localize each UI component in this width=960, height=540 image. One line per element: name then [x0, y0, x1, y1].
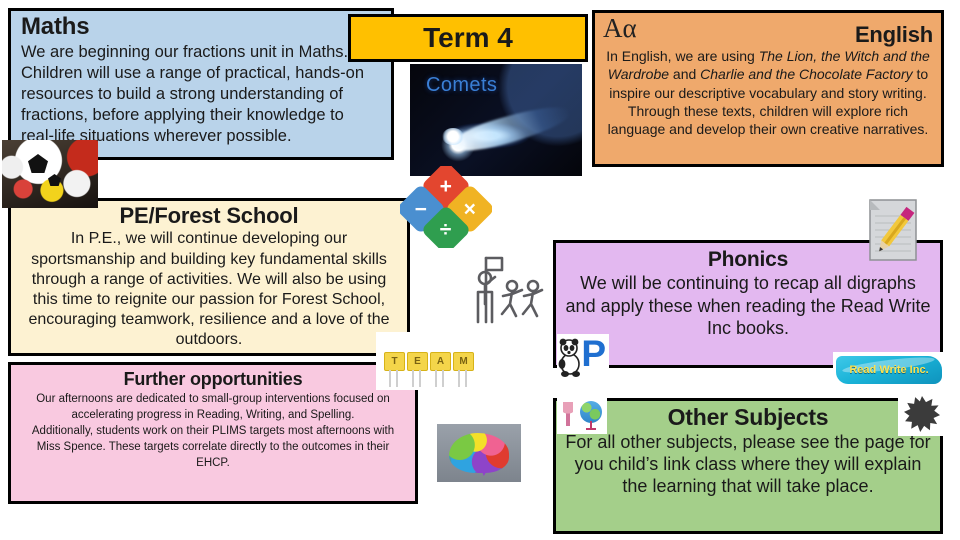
english-book-title-2: Charlie and the Chocolate Factory: [700, 66, 912, 82]
read-write-inc-logo: Read Write Inc.: [833, 352, 945, 388]
notepad-pencil-icon: [864, 198, 922, 262]
alphabet-aa-icon: Aα: [603, 15, 637, 42]
card-pe-forest-school[interactable]: PE/Forest School In P.E., we will contin…: [8, 198, 410, 356]
splat-icon: [898, 392, 946, 436]
comets-label: Comets: [426, 74, 497, 97]
panda-phonics-icon: P: [557, 334, 609, 382]
puzzle-person: T: [384, 352, 405, 371]
term-banner[interactable]: Term 4: [348, 14, 588, 62]
card-further-paragraph-2: Additionally, students work on their PLI…: [21, 423, 405, 471]
puzzle-person: M: [453, 352, 474, 371]
english-text-mid: and: [669, 66, 700, 82]
math-operators-icon: + − × ÷: [400, 166, 492, 248]
globe-stand: [586, 421, 596, 430]
football-pentagon: [48, 174, 61, 186]
running-figures-svg: [470, 252, 546, 332]
minus-glyph: −: [415, 198, 427, 219]
globe-person-icon: [557, 396, 607, 434]
puzzle-letter: T: [384, 352, 405, 371]
globe-sphere: [580, 401, 602, 423]
puzzle-letter: M: [453, 352, 474, 371]
card-other-subjects[interactable]: Other Subjects For all other subjects, p…: [553, 398, 943, 534]
slide-canvas: Maths We are beginning our fractions uni…: [0, 0, 960, 540]
rwi-label: Read Write Inc.: [833, 364, 945, 376]
notepad-pencil-svg: [864, 198, 922, 262]
card-further-opportunities[interactable]: Further opportunities Our afternoons are…: [8, 362, 418, 504]
puzzle-brain-photo: [437, 424, 521, 482]
comet-tail: [449, 100, 572, 158]
card-english-body: In English, we are using The Lion, the W…: [603, 47, 933, 138]
brain-shape: [449, 433, 509, 473]
card-phonics-body: We will be continuing to recap all digra…: [564, 272, 932, 340]
term-banner-label: Term 4: [423, 22, 513, 54]
card-maths-body: We are beginning our fractions unit in M…: [21, 42, 381, 148]
card-other-body: For all other subjects, please see the p…: [564, 432, 932, 498]
puzzle-letter: A: [430, 352, 451, 371]
divide-glyph: ÷: [440, 220, 452, 241]
card-english-title: English: [603, 23, 933, 47]
card-maths-title: Maths: [21, 13, 381, 42]
comet-head: [442, 128, 464, 145]
splat-blob: [904, 396, 940, 432]
person-figure: [563, 402, 573, 426]
card-other-title: Other Subjects: [564, 404, 932, 432]
puzzle-person: A: [430, 352, 451, 371]
sports-balls-photo: [2, 140, 98, 208]
running-figures-icon: [470, 252, 546, 332]
card-further-body: Our afternoons are dedicated to small-gr…: [21, 391, 405, 471]
puzzle-letter: E: [407, 352, 428, 371]
card-maths[interactable]: Maths We are beginning our fractions uni…: [8, 8, 394, 160]
panda-p-letter: P: [581, 335, 606, 372]
team-puzzle-people: T E A M: [376, 332, 482, 390]
card-pe-body: In P.E., we will continue developing our…: [19, 229, 399, 350]
english-text-1: In English, we are using: [606, 48, 759, 64]
puzzle-person: E: [407, 352, 428, 371]
comet-space-photo: Comets: [410, 64, 582, 176]
card-english[interactable]: Aα English In English, we are using The …: [592, 10, 944, 167]
card-further-title: Further opportunities: [21, 368, 405, 391]
card-further-paragraph-1: Our afternoons are dedicated to small-gr…: [21, 391, 405, 423]
times-glyph: ×: [464, 198, 476, 219]
plus-glyph: +: [440, 175, 452, 196]
football-pentagon: [28, 154, 48, 173]
